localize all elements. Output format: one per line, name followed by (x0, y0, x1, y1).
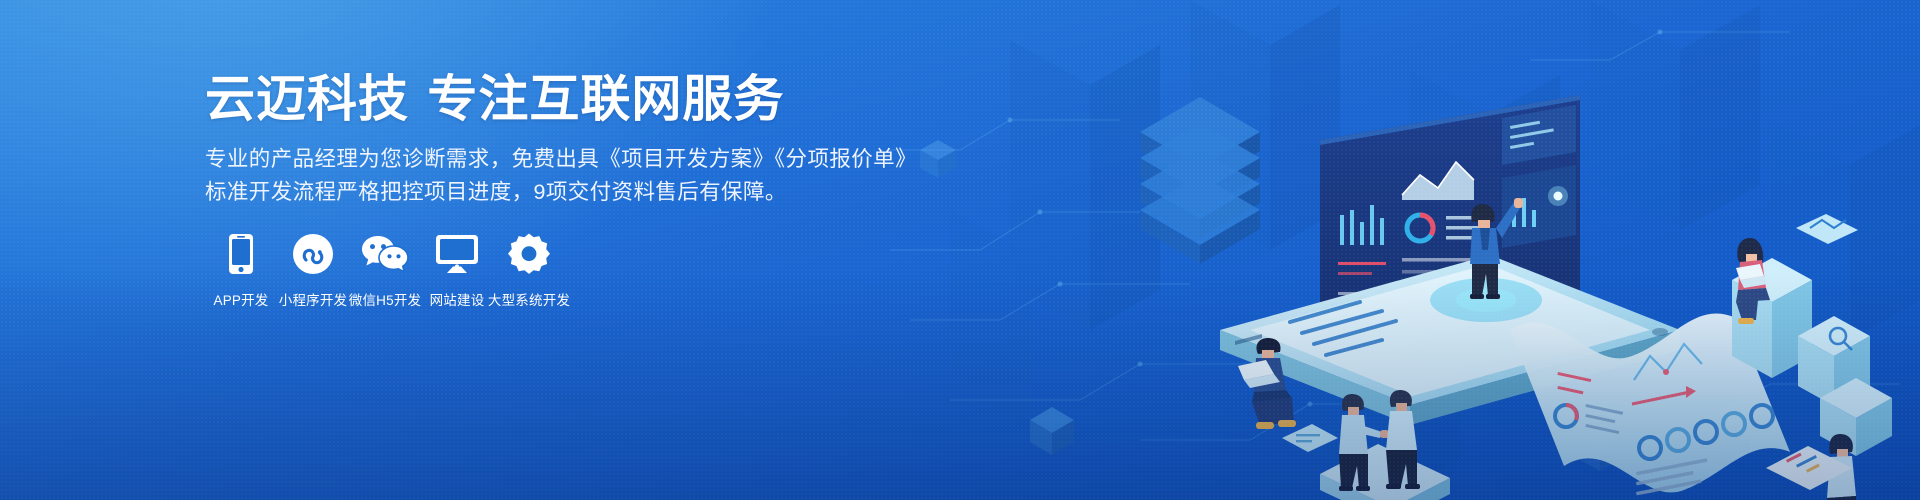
service-label: 微信H5开发 (349, 289, 421, 309)
gear-icon (508, 231, 550, 277)
service-label: 小程序开发 (279, 289, 348, 309)
hero-content: 云迈科技 专注互联网服务 专业的产品经理为您诊断需求，免费出具《项目开发方案》《… (205, 0, 965, 500)
service-label: 大型系统开发 (488, 289, 570, 309)
service-label: 网站建设 (430, 289, 485, 309)
service-item-miniprogram[interactable]: 小程序开发 (277, 231, 349, 309)
subtitle-line-2: 标准开发流程严格把控项目进度，9项交付资料售后有保障。 (205, 176, 905, 209)
service-list: APP开发 小程序开发 (205, 231, 565, 309)
service-item-wechat[interactable]: 微信H5开发 (349, 231, 421, 309)
service-item-system[interactable]: 大型系统开发 (493, 231, 565, 309)
hero-illustration (890, 0, 1920, 500)
mini-program-icon (292, 231, 334, 277)
subtitle-line-1: 专业的产品经理为您诊断需求，免费出具《项目开发方案》《分项报价单》 (205, 143, 905, 176)
wechat-icon (361, 231, 409, 277)
service-item-website[interactable]: 网站建设 (421, 231, 493, 309)
mobile-phone-icon (228, 231, 254, 277)
server-stack (1140, 97, 1260, 264)
hero-subtitle: 专业的产品经理为您诊断需求，免费出具《项目开发方案》《分项报价单》 标准开发流程… (205, 143, 905, 209)
service-label: APP开发 (213, 289, 268, 309)
page-title: 云迈科技 专注互联网服务 (205, 72, 784, 127)
service-item-app[interactable]: APP开发 (205, 231, 277, 309)
monitor-icon (435, 231, 479, 277)
hero-banner: 云迈科技 专注互联网服务 专业的产品经理为您诊断需求，免费出具《项目开发方案》《… (0, 0, 1920, 500)
